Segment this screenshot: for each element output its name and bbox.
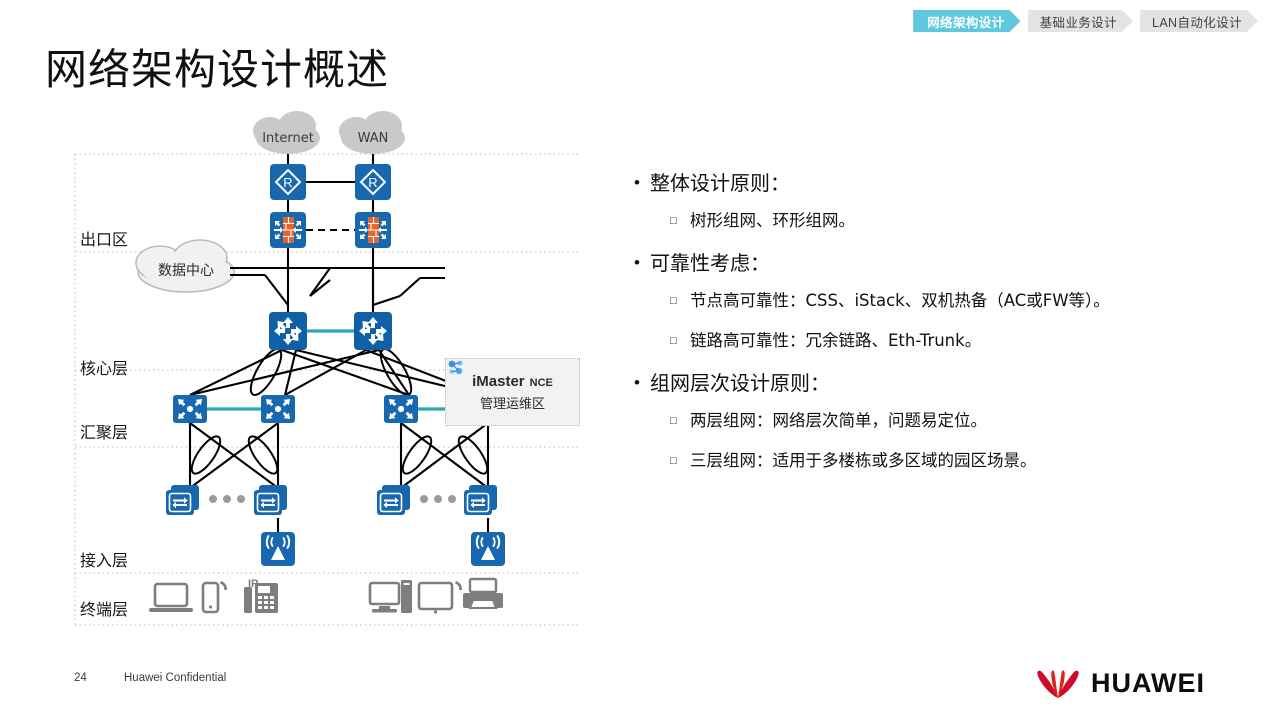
imaster-nce-box[interactable]: iMaster NCE 管理运维区 [445,358,580,426]
layer-label-egress: 出口区 [80,226,128,250]
breadcrumb-item-0[interactable]: 网络架构设计 [913,10,1020,32]
bullet-dot-icon: • [628,168,650,198]
bullet-level2-2-1: □ 三层组网：适用于多楼栋或多区域的园区场景。 [670,448,1253,474]
firewall-left[interactable] [270,212,306,248]
bullet-dot-icon: • [628,368,650,398]
terminal-icons-right [370,579,503,614]
wireless-ap-right[interactable] [471,532,505,566]
huawei-logo-icon [1035,666,1081,700]
ellipsis-right [420,495,456,503]
page-number: 24 [74,672,87,684]
core-switch-right[interactable] [354,312,392,350]
bullet-level2-text-0-0: 树形组网、环形组网。 [690,208,855,234]
bullet-group-0: • 整体设计原则： □ 树形组网、环形组网。 [628,168,1253,234]
bullet-group-2: • 组网层次设计原则： □ 两层组网：网络层次简单，问题易定位。 □ 三层组网：… [628,368,1253,474]
breadcrumb: 网络架构设计 基础业务设计 LAN自动化设计 [913,10,1258,32]
laptop-icon [149,584,193,612]
access-switch-2[interactable] [254,485,287,515]
breadcrumb-item-2[interactable]: LAN自动化设计 [1140,10,1258,32]
confidentiality-notice: Huawei Confidential [124,672,226,684]
bullet-level2-1-0: □ 节点高可靠性：CSS、iStack、双机热备（AC或FW等）。 [670,288,1253,314]
access-switch-1[interactable] [166,485,199,515]
huawei-brand: HUAWEI [1035,666,1205,700]
breadcrumb-label-0: 网络架构设计 [927,12,1004,31]
datacenter-cloud-label: 数据中心 [158,263,214,279]
breadcrumb-item-1[interactable]: 基础业务设计 [1028,10,1133,32]
bullet-level2-2-0: □ 两层组网：网络层次简单，问题易定位。 [670,408,1253,434]
slide-root: 网络架构设计 基础业务设计 LAN自动化设计 网络架构设计概述 R [0,0,1280,720]
huawei-wordmark: HUAWEI [1091,668,1205,699]
access-switch-3[interactable] [377,485,410,515]
bullet-level2-0-0: □ 树形组网、环形组网。 [670,208,1253,234]
bullet-square-icon: □ [670,328,690,354]
imaster-title-row: iMaster NCE [472,373,553,390]
layer-label-core: 核心层 [80,355,128,379]
firewall-right[interactable] [355,212,391,248]
ellipsis-left [209,495,245,503]
bullet-square-icon: □ [670,448,690,474]
wan-cloud-label: WAN [358,131,389,146]
bullet-level1-2: • 组网层次设计原则： [628,368,1253,398]
bullet-level1-text-2: 组网层次设计原则： [650,368,830,398]
bullet-level2-text-1-0: 节点高可靠性：CSS、iStack、双机热备（AC或FW等）。 [690,288,1110,314]
bullet-level1-0: • 整体设计原则： [628,168,1253,198]
access-switch-4[interactable] [464,485,497,515]
layer-label-terminal: 终端层 [80,596,128,620]
router-right[interactable] [355,164,391,200]
network-topology-diagram: R [0,100,610,660]
bullet-square-icon: □ [670,288,690,314]
bullet-level1-1: • 可靠性考虑： [628,248,1253,278]
agg-switch-2[interactable] [261,395,295,423]
imaster-zone-label: 管理运维区 [480,393,545,412]
tablet-icon [419,581,462,614]
smartphone-icon [203,581,227,612]
bullet-square-icon: □ [670,408,690,434]
ip-phone-icon: IP [244,578,278,613]
internet-cloud-label: Internet [262,131,314,146]
imaster-logo-icon [446,359,466,377]
bullet-level2-text-2-0: 两层组网：网络层次简单，问题易定位。 [690,408,987,434]
bullet-square-icon: □ [670,208,690,234]
bullet-level2-text-1-1: 链路高可靠性：冗余链路、Eth-Trunk。 [690,328,981,354]
bullet-level1-text-0: 整体设计原则： [650,168,790,198]
printer-icon [463,579,503,608]
breadcrumb-label-2: LAN自动化设计 [1152,12,1242,31]
imaster-suffix: NCE [530,377,553,389]
bullet-level2-1-1: □ 链路高可靠性：冗余链路、Eth-Trunk。 [670,328,1253,354]
bullet-group-1: • 可靠性考虑： □ 节点高可靠性：CSS、iStack、双机热备（AC或FW等… [628,248,1253,354]
page-title: 网络架构设计概述 [45,36,389,97]
agg-switch-1[interactable] [173,395,207,423]
wireless-ap-left[interactable] [261,532,295,566]
router-left[interactable] [270,164,306,200]
bullet-content: • 整体设计原则： □ 树形组网、环形组网。 • 可靠性考虑： □ 节点高可靠性… [628,168,1253,488]
desktop-pc-icon [370,580,412,613]
bullet-level1-text-1: 可靠性考虑： [650,248,770,278]
topology-links [190,154,488,532]
layer-label-access: 接入层 [80,547,128,571]
core-switch-left[interactable] [269,312,307,350]
breadcrumb-label-1: 基础业务设计 [1040,12,1117,31]
layer-label-aggregation: 汇聚层 [80,419,128,443]
bullet-level2-text-2-1: 三层组网：适用于多楼栋或多区域的园区场景。 [690,448,1037,474]
terminal-icons-left: IP [149,578,278,613]
agg-switch-3[interactable] [384,395,418,423]
bullet-dot-icon: • [628,248,650,278]
imaster-name: iMaster [472,373,525,390]
